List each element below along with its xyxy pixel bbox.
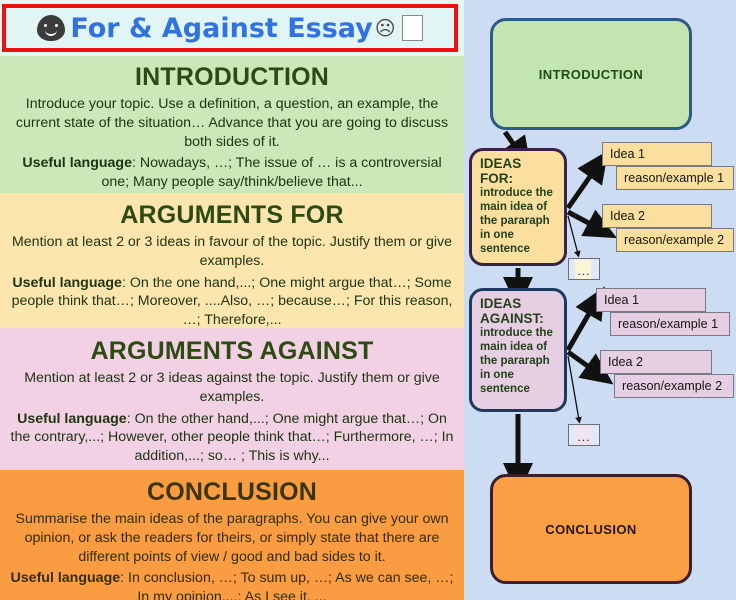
useful-language-label: Useful language — [12, 275, 122, 291]
section-body-arguments-against: Mention at least 2 or 3 ideas against th… — [10, 369, 454, 407]
diagram-leaf-against-ellipsis[interactable]: ... — [568, 424, 600, 446]
diagram-node-introduction[interactable]: INTRODUCTION — [490, 18, 692, 130]
diagram-leaf-for-ellipsis[interactable]: ... — [568, 258, 600, 280]
section-arguments-against: ARGUMENTS AGAINST Mention at least 2 or … — [0, 328, 464, 470]
useful-language-label: Useful language — [11, 570, 121, 586]
diagram-leaf-for-idea-1[interactable]: Idea 1 — [602, 142, 712, 166]
empty-checkbox-icon — [402, 15, 423, 41]
section-body-conclusion: Summarise the main ideas of the paragrap… — [10, 510, 454, 567]
section-heading-arguments-against: ARGUMENTS AGAINST — [10, 337, 454, 366]
useful-language-text: : Nowadays, …; The issue of … is a contr… — [101, 155, 441, 190]
section-introduction: INTRODUCTION Introduce your topic. Use a… — [0, 56, 464, 193]
section-conclusion: CONCLUSION Summarise the main ideas of t… — [0, 470, 464, 600]
diagram-node-ideas-against[interactable]: IDEAS AGAINST: introduce the main idea o… — [469, 288, 567, 412]
section-heading-introduction: INTRODUCTION — [10, 63, 454, 92]
section-useful-conclusion: Useful language: In conclusion, …; To su… — [10, 569, 454, 600]
essay-structure-diagram: INTRODUCTION IDEAS FOR: introduce the ma… — [464, 0, 736, 600]
section-heading-arguments-for: ARGUMENTS FOR — [10, 201, 454, 230]
section-body-introduction: Introduce your topic. Use a definition, … — [10, 95, 454, 152]
left-text-column: For & Against Essay ☹ INTRODUCTION Intro… — [0, 0, 464, 600]
useful-language-text: : In conclusion, …; To sum up, …; As we … — [120, 570, 453, 600]
ellipsis-label: ... — [577, 264, 590, 278]
useful-language-label: Useful language — [17, 411, 127, 427]
diagram-leaf-against-reason-1[interactable]: reason/example 1 — [610, 312, 730, 336]
page-title: For & Against Essay — [70, 13, 372, 44]
ideas-for-heading: IDEAS FOR: — [480, 157, 557, 186]
diagram-leaf-against-idea-1[interactable]: Idea 1 — [596, 288, 706, 312]
diagram-leaf-for-reason-1[interactable]: reason/example 1 — [616, 166, 734, 190]
ideas-for-body: introduce the main idea of the pararaph … — [480, 187, 557, 257]
section-useful-introduction: Useful language: Nowadays, …; The issue … — [10, 154, 454, 192]
section-heading-conclusion: CONCLUSION — [10, 478, 454, 507]
useful-language-label: Useful language — [22, 155, 132, 171]
infographic-page: For & Against Essay ☹ INTRODUCTION Intro… — [0, 0, 736, 600]
diagram-leaf-against-reason-2[interactable]: reason/example 2 — [614, 374, 734, 398]
diagram-leaf-against-idea-2[interactable]: Idea 2 — [600, 350, 712, 374]
title-banner: For & Against Essay ☹ — [2, 4, 458, 52]
sad-face-icon: ☹ — [375, 18, 396, 38]
section-useful-arguments-against: Useful language: On the other hand,...; … — [10, 410, 454, 467]
section-useful-arguments-for: Useful language: On the one hand,...; On… — [10, 274, 454, 331]
ideas-against-heading: IDEAS AGAINST: — [480, 297, 557, 326]
diagram-leaf-for-reason-2[interactable]: reason/example 2 — [616, 228, 734, 252]
section-body-arguments-for: Mention at least 2 or 3 ideas in favour … — [10, 233, 454, 271]
section-arguments-for: ARGUMENTS FOR Mention at least 2 or 3 id… — [0, 193, 464, 328]
diagram-node-ideas-for[interactable]: IDEAS FOR: introduce the main idea of th… — [469, 148, 567, 266]
ideas-against-body: introduce the main idea of the pararaph … — [480, 327, 557, 397]
smiling-blob-face-icon — [37, 15, 65, 41]
diagram-node-conclusion[interactable]: CONCLUSION — [490, 474, 692, 584]
ellipsis-label: ... — [577, 430, 590, 444]
diagram-leaf-for-idea-2[interactable]: Idea 2 — [602, 204, 712, 228]
